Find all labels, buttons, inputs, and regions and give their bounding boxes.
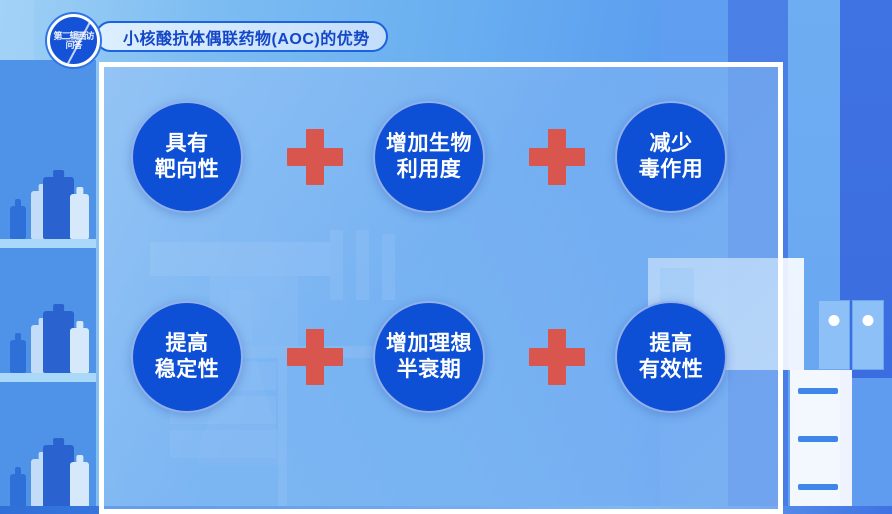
plus-icon [287, 129, 343, 185]
panel-inner: 具有 靶向性 增加生物 利用度 减少 毒作用 [104, 67, 778, 509]
shelf-tier [0, 386, 96, 514]
advantage-line: 靶向性 [155, 157, 220, 183]
advantage-line: 增加生物 [386, 131, 472, 157]
advantage-circle[interactable]: 增加理想 半衰期 [373, 301, 485, 413]
advantage-line: 提高 [650, 331, 693, 357]
page-title: 小核酸抗体偶联药物(AOC)的优势 [123, 25, 370, 49]
plus-icon [529, 329, 585, 385]
drawer-handle [798, 436, 838, 442]
plus-bar-vertical [306, 129, 324, 185]
advantage-circle[interactable]: 提高 稳定性 [131, 301, 243, 413]
shelf-tier [0, 252, 96, 382]
advantage-circle[interactable]: 减少 毒作用 [615, 101, 727, 213]
bottle-silhouette [10, 340, 26, 373]
advantage-line: 具有 [166, 131, 209, 157]
logo-text: 第二辑西访问答 [50, 17, 97, 64]
binder [852, 300, 884, 370]
bottle-silhouette [10, 474, 26, 507]
advantage-line: 减少 [650, 131, 693, 157]
bottle-silhouette [70, 194, 89, 239]
binder [818, 300, 850, 370]
shelf-tier [0, 118, 96, 248]
channel-logo-icon[interactable]: 第二辑西访问答 [47, 14, 100, 67]
advantage-grid: 具有 靶向性 增加生物 利用度 减少 毒作用 [104, 67, 778, 509]
advantage-line: 毒作用 [639, 157, 704, 183]
advantages-panel: 具有 靶向性 增加生物 利用度 减少 毒作用 [99, 62, 783, 514]
advantage-line: 稳定性 [155, 357, 220, 383]
advantage-line: 增加理想 [386, 331, 472, 357]
advantage-circle[interactable]: 增加生物 利用度 [373, 101, 485, 213]
left-shelf-unit [0, 60, 96, 514]
plus-icon [287, 329, 343, 385]
cabinet-side [852, 378, 892, 514]
plus-bar-vertical [548, 329, 566, 385]
plus-icon [529, 129, 585, 185]
plus-bar-vertical [548, 129, 566, 185]
drawer-handle [798, 484, 838, 490]
slide-title-bar: 小核酸抗体偶联药物(AOC)的优势 [95, 21, 388, 52]
binder-hole [829, 315, 840, 326]
bottle-silhouette [10, 206, 26, 239]
bottle-silhouette [70, 462, 89, 507]
binder-hole [863, 315, 874, 326]
advantage-circle[interactable]: 具有 靶向性 [131, 101, 243, 213]
advantage-line: 利用度 [397, 157, 462, 183]
bottle-silhouette [70, 328, 89, 373]
advantage-circle[interactable]: 提高 有效性 [615, 301, 727, 413]
slide-root: 具有 靶向性 增加生物 利用度 减少 毒作用 [0, 0, 892, 514]
shelf-plank [0, 373, 96, 382]
advantage-line: 有效性 [639, 357, 704, 383]
plus-bar-vertical [306, 329, 324, 385]
wall-strip [0, 0, 34, 60]
advantage-line: 提高 [166, 331, 209, 357]
drawer-handle [798, 388, 838, 394]
advantage-line: 半衰期 [397, 357, 462, 383]
shelf-plank [0, 239, 96, 248]
